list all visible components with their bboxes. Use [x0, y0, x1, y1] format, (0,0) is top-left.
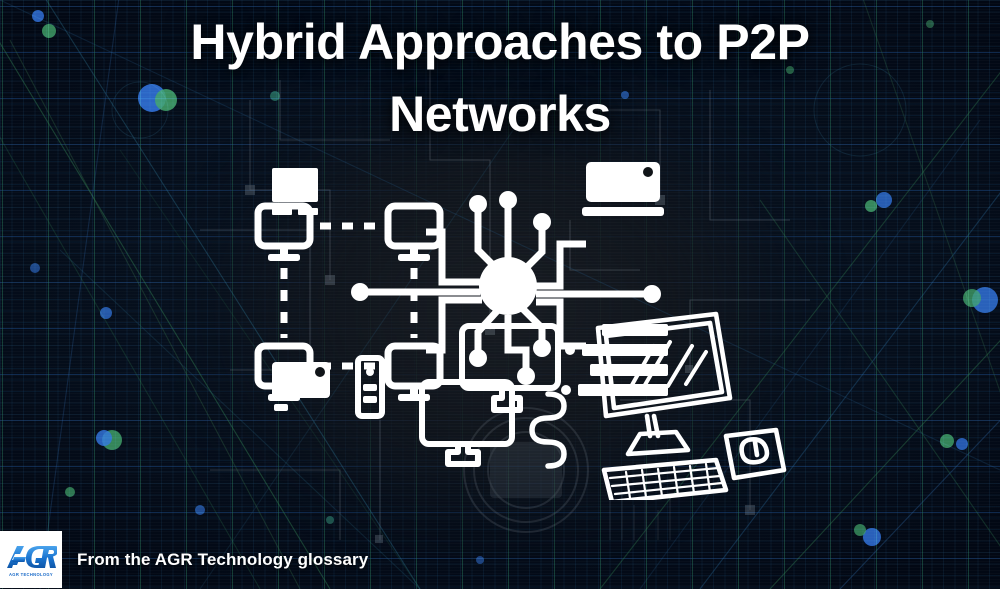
chip-desktop-icon [272, 362, 330, 411]
agr-wordmark-icon [5, 543, 57, 571]
agr-logo-subtext: AGR TECHNOLOGY [9, 572, 53, 577]
footer-bar: AGR TECHNOLOGY From the AGR Technology g… [0, 530, 368, 589]
page-title: Hybrid Approaches to P2P Networks [0, 6, 1000, 150]
title-line-2: Networks [40, 78, 960, 150]
network-illustration [230, 140, 790, 500]
footer-caption: From the AGR Technology glossary [77, 550, 368, 570]
monitor-node-bottom-right [388, 346, 440, 401]
glossary-banner: Hybrid Approaches to P2P Networks [0, 0, 1000, 589]
title-line-1: Hybrid Approaches to P2P [40, 6, 960, 78]
chip-laptop-icon [582, 162, 664, 216]
agr-logo[interactable]: AGR TECHNOLOGY [0, 531, 62, 588]
desktop-computer-icon [598, 314, 784, 500]
